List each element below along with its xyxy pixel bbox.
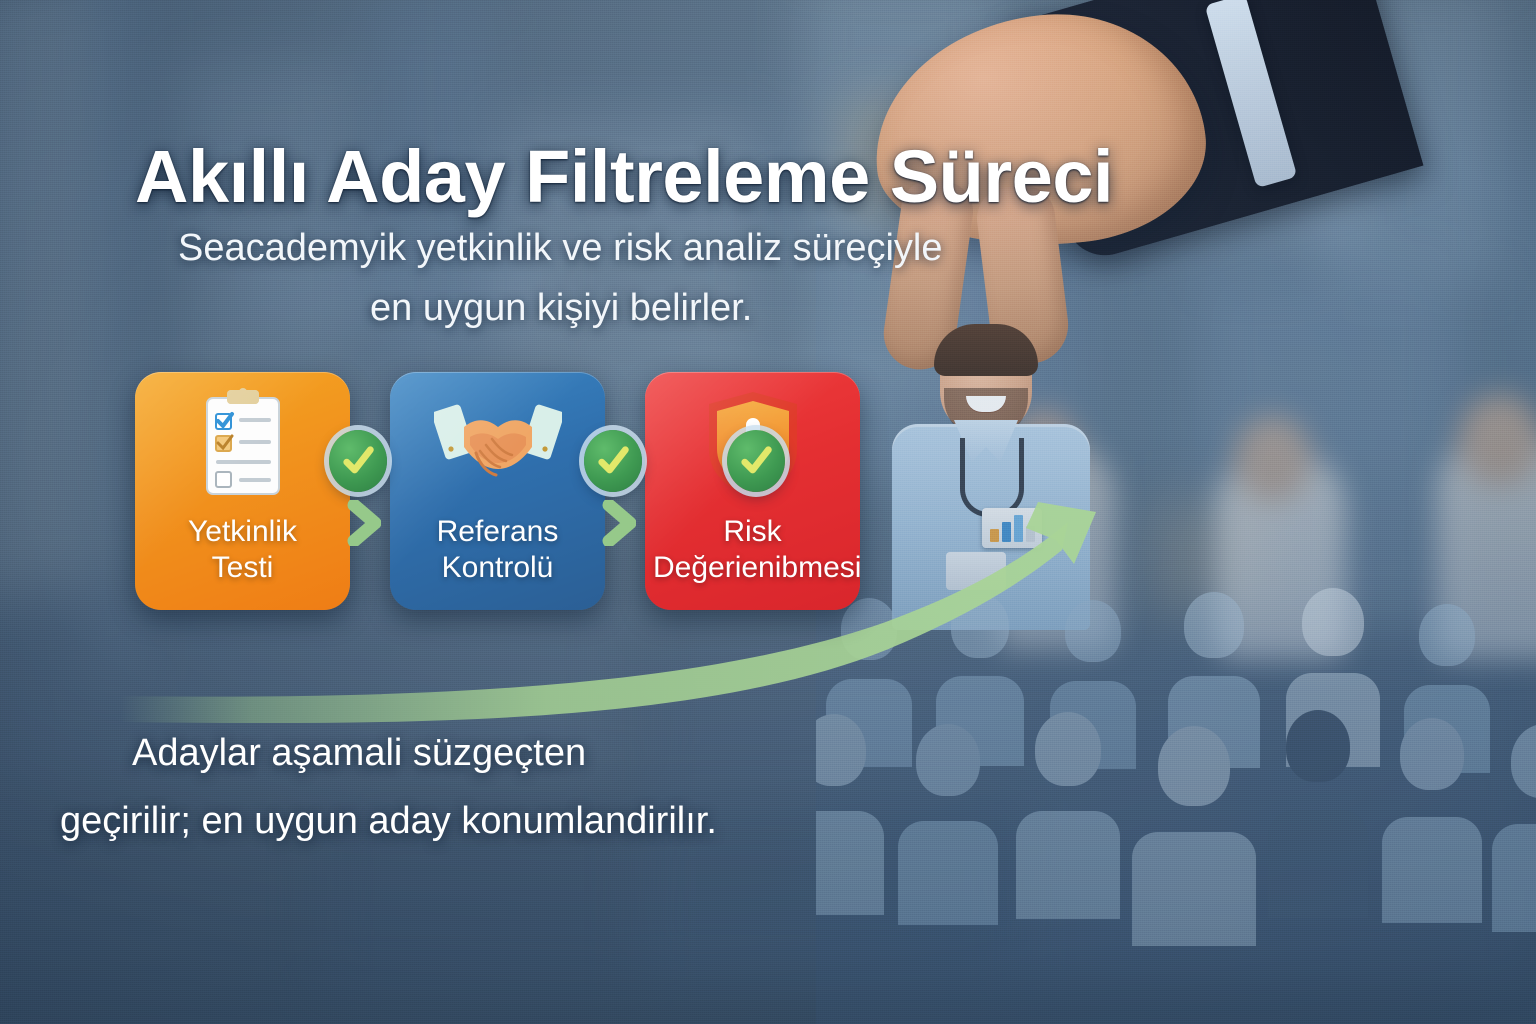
step-label-line-1: Yetkinlik — [143, 514, 342, 550]
step-card-label: Yetkinlik Testi — [143, 514, 342, 586]
page-caption: Adaylar aşamali süzgeçten geçirilir; en … — [60, 720, 920, 855]
step-label-line-2: Testi — [143, 550, 342, 586]
step-card-label: Referans Kontrolü — [398, 514, 597, 586]
green-check-badge-1 — [329, 430, 387, 492]
chevron-right-icon-2 — [602, 500, 636, 546]
process-steps: Yetkinlik Testi — [135, 372, 860, 610]
green-check-badge-2 — [584, 430, 642, 492]
page-subtitle: Seacademyik yetkinlik ve risk analiz sür… — [178, 218, 998, 338]
handshake-icon — [390, 386, 605, 504]
subtitle-line-2: en uygun kişiyi belirler. — [370, 278, 998, 338]
step-card-label: Risk Değerienibmesi — [653, 514, 852, 586]
step-label-line-2: Değerienibmesi — [653, 550, 852, 586]
chevron-right-icon-1 — [347, 500, 381, 546]
step-card-yetkinlik-testi[interactable]: Yetkinlik Testi — [135, 372, 350, 610]
green-check-badge-3 — [727, 430, 785, 492]
subtitle-line-1: Seacademyik yetkinlik ve risk analiz sür… — [178, 227, 943, 269]
clipboard-checklist-icon — [135, 386, 350, 504]
caption-line-1: Adaylar aşamali süzgeçten — [132, 720, 920, 788]
caption-line-2: geçirilir; en uygun aday konumlandirilır… — [60, 788, 920, 856]
step-label-line-2: Kontrolü — [398, 550, 597, 586]
step-card-referans-kontrolu[interactable]: Referans Kontrolü — [390, 372, 605, 610]
poster-canvas: Akıllı Aday Filtreleme Süreci Seacademyi… — [0, 0, 1536, 1024]
page-title: Akıllı Aday Filtreleme Süreci — [135, 134, 1113, 219]
step-label-line-1: Risk — [653, 514, 852, 550]
step-label-line-1: Referans — [398, 514, 597, 550]
